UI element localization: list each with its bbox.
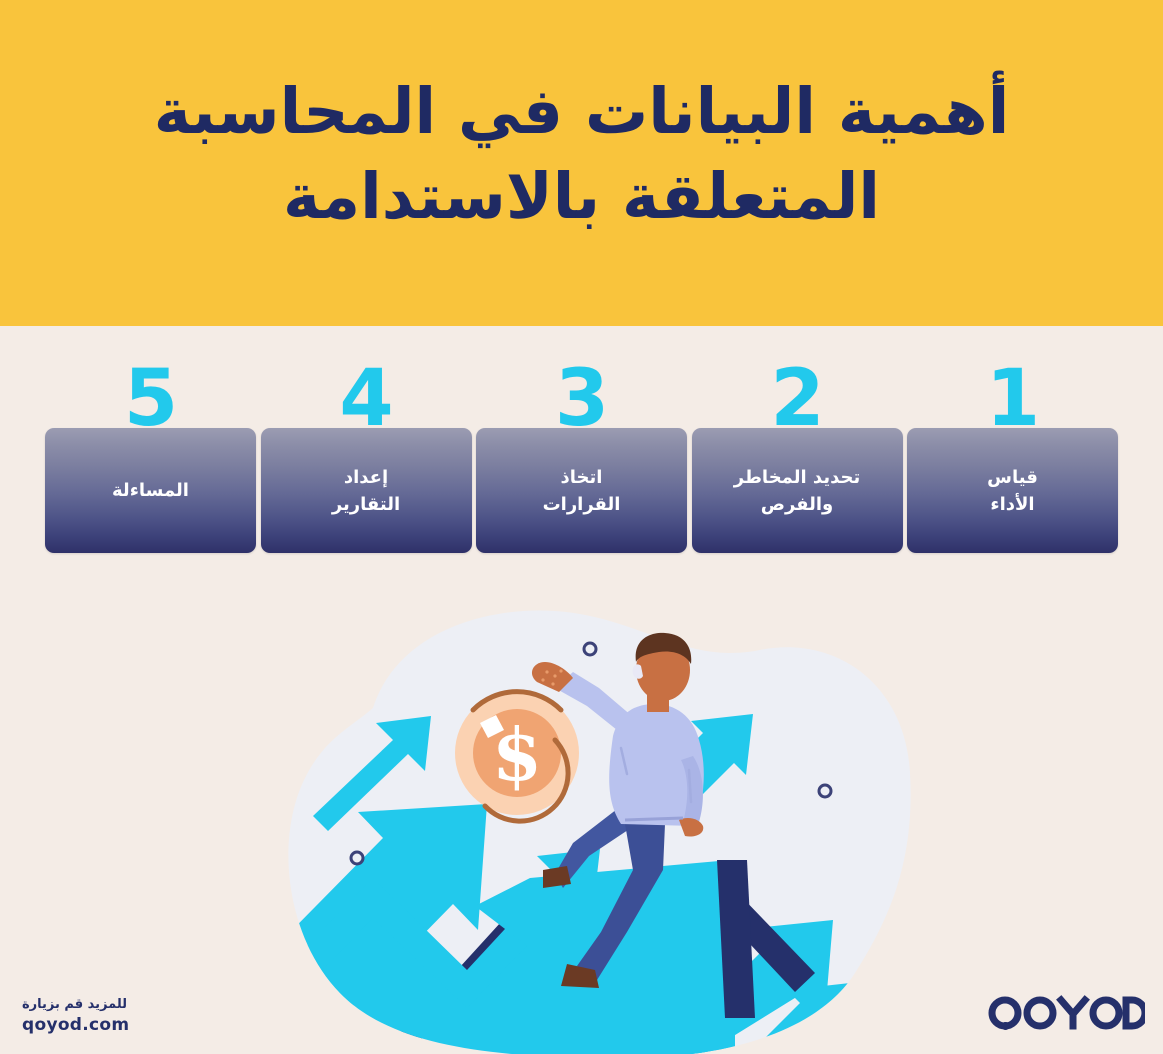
step-card-5[interactable]: 5 المساءلة bbox=[45, 428, 256, 553]
page-title: أهمية البيانات في المحاسبة المتعلقة بالا… bbox=[62, 69, 1102, 239]
step-card-3[interactable]: 3 اتخاذ القرارات bbox=[476, 428, 687, 553]
step-card-1[interactable]: 1 قياس الأداء bbox=[907, 428, 1118, 553]
step-number-3: 3 bbox=[476, 360, 687, 438]
steps-card-row: 5 المساءلة 4 إعداد التقارير 3 اتخاذ القر… bbox=[45, 428, 1118, 553]
step-label-4: إعداد التقارير bbox=[332, 464, 400, 518]
growth-illustration: $ bbox=[255, 588, 935, 1054]
step-card-body-5[interactable]: المساءلة bbox=[45, 428, 256, 553]
step-number-2: 2 bbox=[692, 360, 903, 438]
footer-url[interactable]: qoyod.com bbox=[22, 1014, 129, 1037]
step-card-body-4[interactable]: إعداد التقارير bbox=[261, 428, 472, 553]
step-label-5: المساءلة bbox=[112, 477, 189, 504]
step-number-5: 5 bbox=[45, 360, 256, 438]
infographic-page: أهمية البيانات في المحاسبة المتعلقة بالا… bbox=[0, 0, 1163, 1054]
step-card-2[interactable]: 2 تحديد المخاطر والفرص bbox=[692, 428, 903, 553]
header-banner: أهمية البيانات في المحاسبة المتعلقة بالا… bbox=[0, 0, 1163, 326]
step-card-body-1[interactable]: قياس الأداء bbox=[907, 428, 1118, 553]
step-card-body-2[interactable]: تحديد المخاطر والفرص bbox=[692, 428, 903, 553]
step-card-body-3[interactable]: اتخاذ القرارات bbox=[476, 428, 687, 553]
coin-dollar-symbol: $ bbox=[492, 712, 542, 797]
step-label-3: اتخاذ القرارات bbox=[543, 464, 621, 518]
step-number-4: 4 bbox=[261, 360, 472, 438]
step-card-4[interactable]: 4 إعداد التقارير bbox=[261, 428, 472, 553]
step-label-2: تحديد المخاطر والفرص bbox=[734, 464, 860, 518]
qoyod-logo[interactable]: QOYOD bbox=[985, 993, 1145, 1033]
step-label-1: قياس الأداء bbox=[987, 464, 1038, 518]
step-number-1: 1 bbox=[907, 360, 1118, 438]
footer-more-text: للمزيد قم بزيارة bbox=[22, 996, 129, 1014]
footer-visit-block: للمزيد قم بزيارة qoyod.com bbox=[22, 996, 129, 1036]
